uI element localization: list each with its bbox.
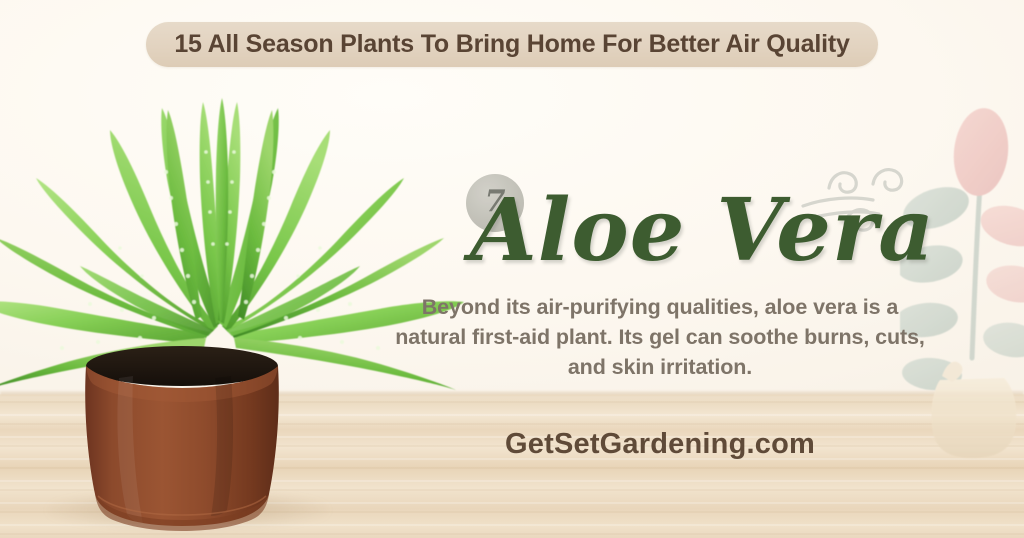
poster-canvas: 15 All Season Plants To Bring Home For B… <box>0 0 1024 538</box>
banner-title-pill: 15 All Season Plants To Bring Home For B… <box>146 22 878 67</box>
plant-name-heading: Aloe Vera <box>470 176 920 286</box>
website-url: GetSetGardening.com <box>392 428 928 461</box>
plant-description: Beyond its air-purifying qualities, aloe… <box>392 292 928 382</box>
terracotta-pot <box>65 344 300 538</box>
page-title: 15 All Season Plants To Bring Home For B… <box>174 30 849 59</box>
